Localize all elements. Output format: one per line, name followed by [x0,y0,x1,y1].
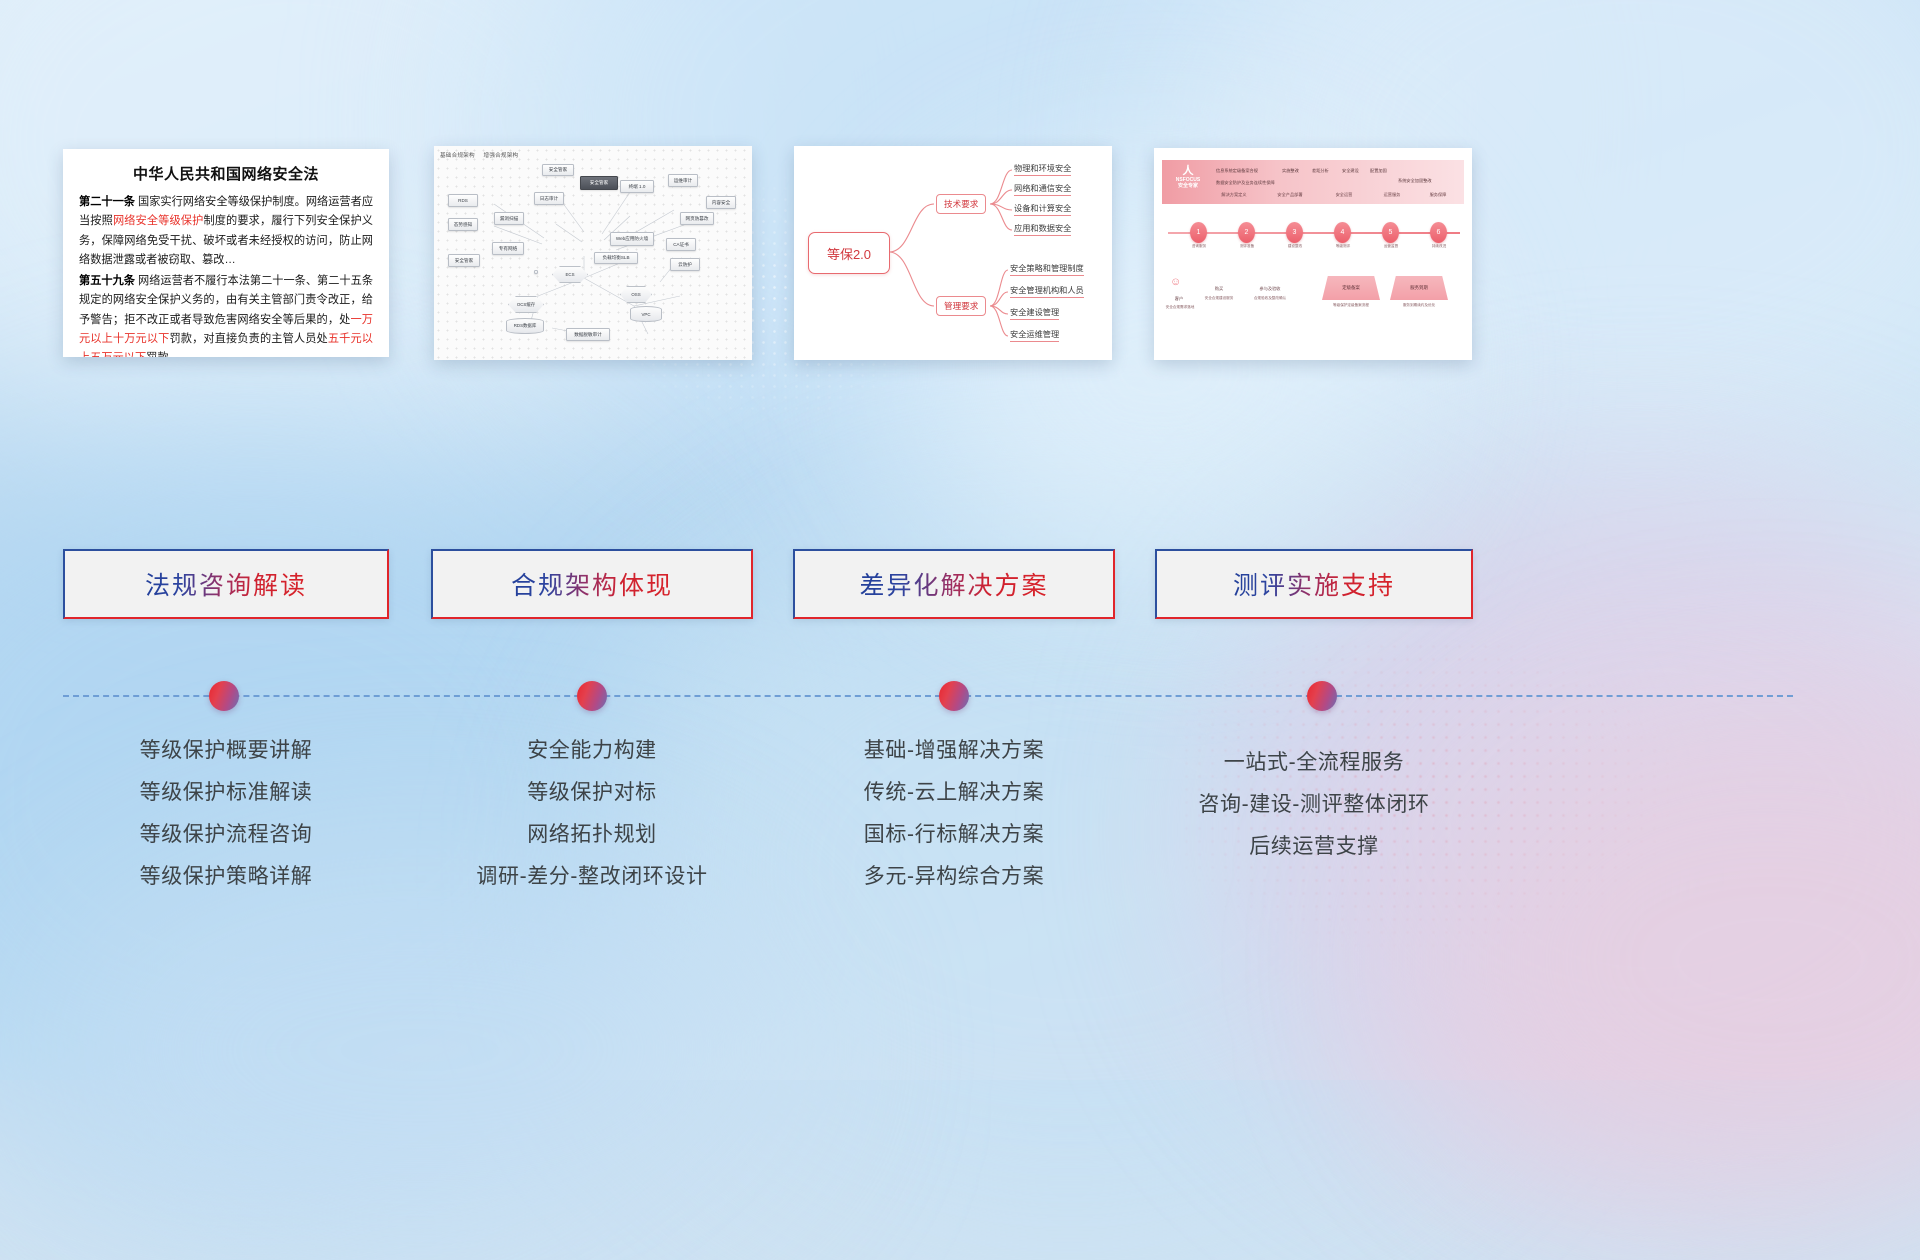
card-mindmap-dengbao[interactable]: 等保2.0 技术要求 物理和环境安全 网络和通信安全 设备和计算安全 应用和数据… [794,146,1112,360]
bottom-item-sub: 安全合规建设服务 [1194,296,1244,301]
stage-note: 测评准备 [1232,244,1262,249]
list-item: 一站式-全流程服务 [1155,752,1473,773]
pillar-list-differentiated-solution: 基础-增强解决方案 传统-云上解决方案 国标-行标解决方案 多元-异构综合方案 [793,740,1115,908]
list-item: 基础-增强解决方案 [793,740,1115,761]
stage-node: 3 [1286,222,1303,243]
nsfocus-logo: 人 NSFOCUS 安全专家 [1168,166,1208,190]
pillar-list-compliance-architecture: 安全能力构建 等级保护对标 网络拓扑规划 调研-差分-整改闭环设计 [431,740,753,908]
mindmap-leaf: 网络和通信安全 [1014,185,1071,196]
pillar-list-regulation-consulting: 等级保护概要讲解 等级保护标准解读 等级保护流程咨询 等级保护策略详解 [63,740,389,908]
pillar-header-regulation-consulting[interactable]: 法规咨询解读 [63,549,389,619]
card-nsfocus-roadmap[interactable]: 人 NSFOCUS 安全专家 信息系统定级备案合规 实施整改 差距分析 安全建设… [1154,148,1472,360]
band-item: 差距分析 [1312,168,1329,174]
bottom-item-title: 定级备案 [1342,285,1360,291]
list-item: 国标-行标解决方案 [793,824,1115,845]
bottom-trapezoid: 定级备案 [1322,276,1380,300]
article-59-label: 第五十九条 [79,275,135,287]
list-item: 传统-云上解决方案 [793,782,1115,803]
timeline-dashed-line [63,695,1793,697]
mindmap-branch-management: 管理要求 [936,296,986,316]
bottom-trapezoid: 服务到期 [1390,276,1448,300]
article-59-text-c: 罚款。 [146,352,180,357]
bottom-item-title: 参与及验收 [1248,286,1292,292]
pillar-header-label: 测评实施支持 [1233,566,1395,602]
bottom-item-sub: 合规验收及整改确认 [1242,296,1298,301]
stage-node: 5 [1382,222,1399,243]
pillar-header-label: 差异化解决方案 [859,566,1048,602]
customer-sub: 安全合规需求落地 [1154,305,1206,310]
list-item: 咨询-建设-测评整体闭环 [1155,794,1473,815]
nsfocus-diagram: 人 NSFOCUS 安全专家 信息系统定级备案合规 实施整改 差距分析 安全建设… [1154,148,1472,360]
list-item: 多元-异构综合方案 [793,866,1115,887]
mindmap-leaf: 物理和环境安全 [1014,165,1071,176]
article-21-highlight: 网络安全等级保护 [113,215,204,227]
list-item: 调研-差分-整改闭环设计 [431,866,753,887]
timeline-dot[interactable] [1307,681,1337,711]
stage-node: 2 [1238,222,1255,243]
stage-note: 运营监督 [1376,244,1406,249]
stage-label: 运营服务 [1370,192,1414,198]
stage-note: 咨询服务 [1184,244,1214,249]
nsfocus-logo-line2: 安全专家 [1168,183,1208,189]
timeline-dot[interactable] [939,681,969,711]
pillar-header-label: 法规咨询解读 [145,566,307,602]
pillar-header-differentiated-solution[interactable]: 差异化解决方案 [793,549,1115,619]
mindmap-leaf: 设备和计算安全 [1014,205,1071,216]
list-item: 等级保护概要讲解 [63,740,389,761]
law-article-59: 第五十九条 网络运营者不履行本法第二十一条、第二十五条规定的网络安全保护义务的，… [79,272,373,357]
stage-label: 安全运营 [1322,192,1366,198]
mindmap-leaf: 应用和数据安全 [1014,225,1071,236]
mindmap-diagram: 等保2.0 技术要求 物理和环境安全 网络和通信安全 设备和计算安全 应用和数据… [794,146,1112,360]
stage-node: 6 [1430,222,1447,243]
list-item: 等级保护流程咨询 [63,824,389,845]
pillar-list-assessment-support: 一站式-全流程服务 咨询-建设-测评整体闭环 后续运营支撑 [1155,752,1473,878]
timeline-dot[interactable] [577,681,607,711]
law-title: 中华人民共和国网络安全法 [79,163,373,184]
customer-title: 客户 [1160,296,1198,302]
list-item: 安全能力构建 [431,740,753,761]
mindmap-leaf: 安全管理机构和人员 [1010,287,1084,298]
bottom-item-title: 购买 [1202,286,1236,292]
mindmap-leaf: 安全运维管理 [1010,331,1059,342]
stage-note: 持续改进 [1424,244,1454,249]
band-item: 数据安全防护及业务连续性保障 [1216,180,1275,186]
stage-label: 解决方案定义 [1210,192,1258,198]
stage-node: 1 [1190,222,1207,243]
pillar-header-compliance-architecture[interactable]: 合规架构体现 [431,549,753,619]
article-21-label: 第二十一条 [79,196,135,208]
law-article-21: 第二十一条 国家实行网络安全等级保护制度。网络运营者应当按照网络安全等级保护制度… [79,193,373,270]
list-item: 等级保护策略详解 [63,866,389,887]
card-cybersecurity-law[interactable]: 中华人民共和国网络安全法 第二十一条 国家实行网络安全等级保护制度。网络运营者应… [63,149,389,357]
band-item: 配置加固 [1370,168,1387,174]
stage-label: 安全产品部署 [1266,192,1314,198]
list-item: 等级保护对标 [431,782,753,803]
person-icon: 人 [1168,166,1208,177]
architecture-diagram: 基础合规架构 增强合规架构 RDS 态势感知 [434,146,752,360]
bottom-item-sub: 等级保护定级备案流程 [1318,303,1384,308]
band-item: 安全建设 [1342,168,1359,174]
stage-label: 服务保障 [1416,192,1460,198]
list-item: 网络拓扑规划 [431,824,753,845]
mindmap-leaf: 安全策略和管理制度 [1010,265,1084,276]
pillar-header-assessment-support[interactable]: 测评实施支持 [1155,549,1473,619]
bottom-item-title: 服务到期 [1410,285,1428,291]
band-item: 实施整改 [1282,168,1299,174]
band-item: 系统安全加固整改 [1398,178,1432,184]
stage-note: 等级测评 [1328,244,1358,249]
customer-icon: ☺ [1170,276,1181,288]
bottom-item-sub: 服务到期续约及优化 [1386,303,1452,308]
band-item: 信息系统定级备案合规 [1216,168,1258,174]
stage-node: 4 [1334,222,1351,243]
mindmap-root: 等保2.0 [808,232,890,274]
pillar-header-label: 合规架构体现 [511,566,673,602]
stage-note: 建设整改 [1280,244,1310,249]
mindmap-leaf: 安全建设管理 [1010,309,1059,320]
timeline-dot[interactable] [209,681,239,711]
list-item: 等级保护标准解读 [63,782,389,803]
card-compliance-architecture[interactable]: 基础合规架构 增强合规架构 RDS 态势感知 [434,146,752,360]
list-item: 后续运营支撑 [1155,836,1473,857]
mindmap-branch-technical: 技术要求 [936,194,986,214]
article-59-text-b: 罚款，对直接负责的主管人员处 [170,333,328,345]
timeline-axis [1168,232,1460,234]
